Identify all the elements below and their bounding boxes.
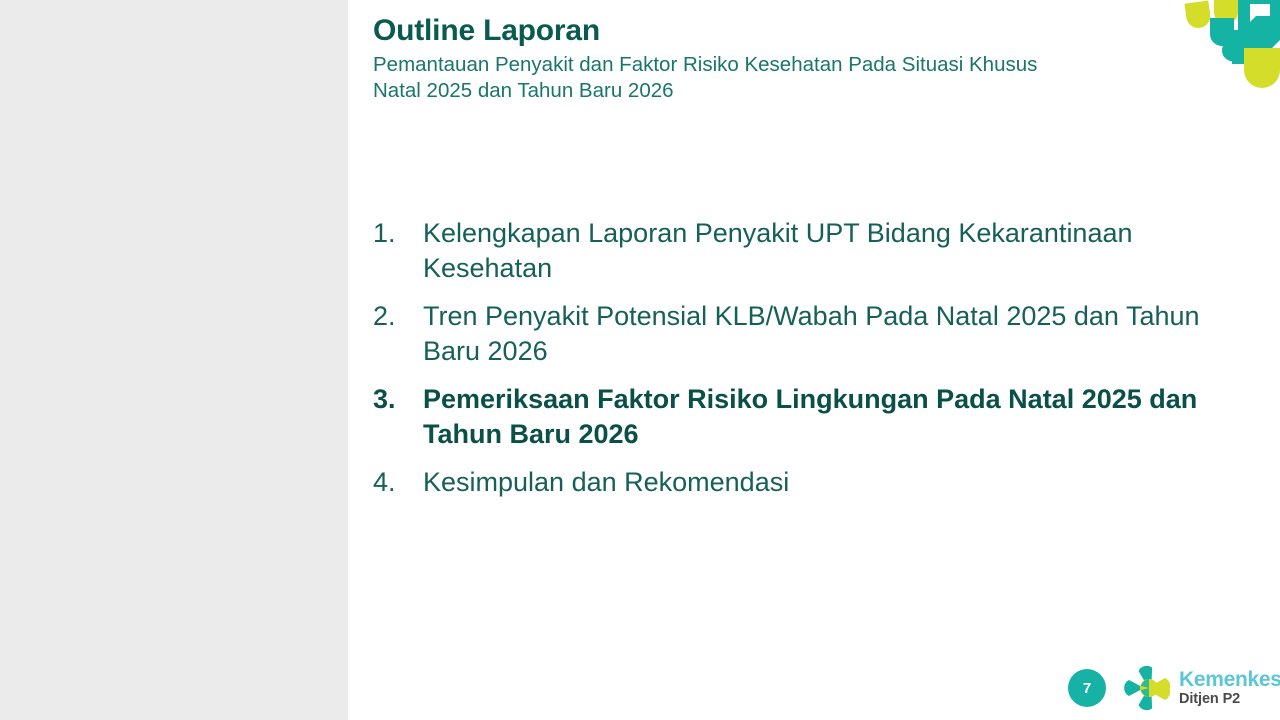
list-item: 1. Kelengkapan Laporan Penyakit UPT Bida…	[373, 216, 1263, 285]
brand-text: Kemenkes Ditjen P2	[1179, 669, 1280, 707]
list-item-label: Kesimpulan dan Rekomendasi	[423, 465, 1263, 500]
page-title: Outline Laporan	[373, 14, 1163, 48]
slide: Outline Laporan Pemantauan Penyakit dan …	[0, 0, 1280, 720]
brand-subtitle: Ditjen P2	[1179, 692, 1280, 707]
list-item-label: Pemeriksaan Faktor Risiko Lingkungan Pad…	[423, 382, 1263, 451]
list-item-label: Tren Penyakit Potensial KLB/Wabah Pada N…	[423, 299, 1263, 368]
subtitle-line-2: Natal 2025 dan Tahun Baru 2026	[373, 79, 674, 102]
kemenkes-logo: Kemenkes Ditjen P2	[1123, 666, 1280, 710]
slide-footer: 7	[1068, 660, 1280, 716]
slide-header: Outline Laporan Pemantauan Penyakit dan …	[373, 14, 1163, 104]
page-number-badge: 7	[1068, 669, 1106, 707]
list-item-number: 3.	[373, 382, 423, 417]
clover-logo-icon	[1123, 666, 1173, 710]
list-item: 2. Tren Penyakit Potensial KLB/Wabah Pad…	[373, 299, 1263, 368]
corner-decoration-graphic	[1184, 0, 1280, 88]
list-item-number: 2.	[373, 299, 423, 334]
list-item-highlighted: 3. Pemeriksaan Faktor Risiko Lingkungan …	[373, 382, 1263, 451]
outline-list: 1. Kelengkapan Laporan Penyakit UPT Bida…	[373, 216, 1263, 500]
subtitle-line-1: Pemantauan Penyakit dan Faktor Risiko Ke…	[373, 53, 1037, 76]
list-item-label: Kelengkapan Laporan Penyakit UPT Bidang …	[423, 216, 1263, 285]
left-gray-panel	[0, 0, 348, 720]
list-item: 4. Kesimpulan dan Rekomendasi	[373, 465, 1263, 500]
list-item-number: 1.	[373, 216, 423, 251]
page-subtitle: Pemantauan Penyakit dan Faktor Risiko Ke…	[373, 52, 1163, 104]
brand-name: Kemenkes	[1179, 669, 1280, 690]
list-item-number: 4.	[373, 465, 423, 500]
